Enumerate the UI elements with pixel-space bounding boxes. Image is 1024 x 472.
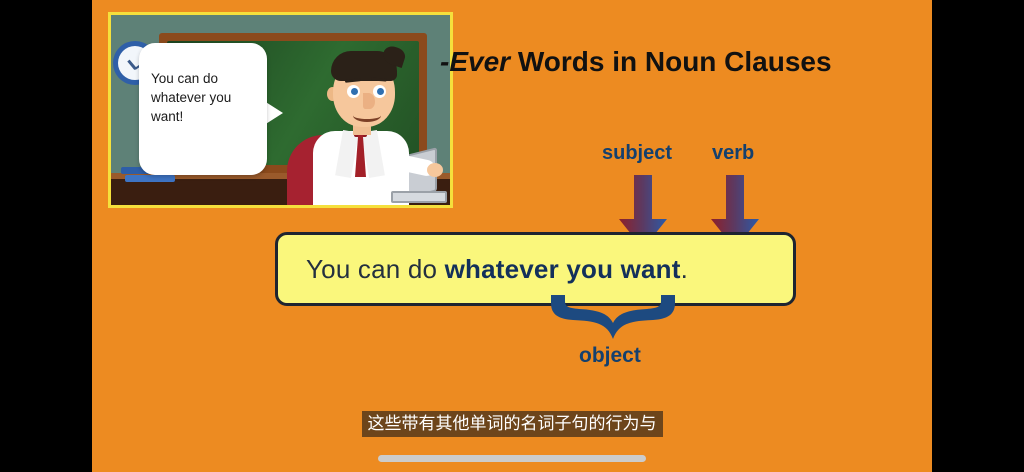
label-subject: subject (602, 142, 672, 165)
speech-bubble: You can do whatever you want! (139, 43, 267, 175)
letterbox-bar-right (932, 0, 1024, 472)
teacher-character (287, 47, 437, 208)
teacher-pupil-right (377, 88, 384, 95)
subtitle-container: 这些带有其他单词的名词子句的行为与 (92, 411, 932, 437)
teacher-cartoon-illustration: You can do whatever you want! (108, 12, 453, 208)
laptop-base (391, 191, 447, 203)
title-rest-part: Words in Noun Clauses (510, 46, 832, 77)
curly-brace-down-icon (549, 293, 681, 343)
title-ever-part: -Ever (440, 46, 510, 77)
video-progress-bar[interactable] (378, 455, 646, 462)
book-bottom (125, 175, 175, 182)
letterbox-bar-left (0, 0, 92, 472)
teacher-smile (353, 109, 381, 122)
page-title: -Ever Words in Noun Clauses (440, 46, 832, 78)
sentence-bold-clause: whatever you want (445, 254, 681, 284)
sentence-plain-after: . (681, 254, 688, 284)
example-sentence-box: You can do whatever you want. (275, 232, 796, 306)
lesson-slide: You can do whatever you want! -Ever Word… (92, 0, 932, 472)
label-object: object (579, 344, 641, 368)
video-player-stage: You can do whatever you want! -Ever Word… (0, 0, 1024, 472)
label-verb: verb (712, 142, 754, 165)
sentence-plain-before: You can do (306, 254, 445, 284)
example-sentence-text: You can do whatever you want. (278, 254, 688, 285)
teacher-hand (427, 163, 443, 177)
teacher-nose (363, 93, 375, 109)
speech-bubble-text: You can do whatever you want! (151, 69, 259, 126)
subtitle-text: 这些带有其他单词的名词子句的行为与 (362, 411, 663, 437)
teacher-pupil-left (351, 88, 358, 95)
